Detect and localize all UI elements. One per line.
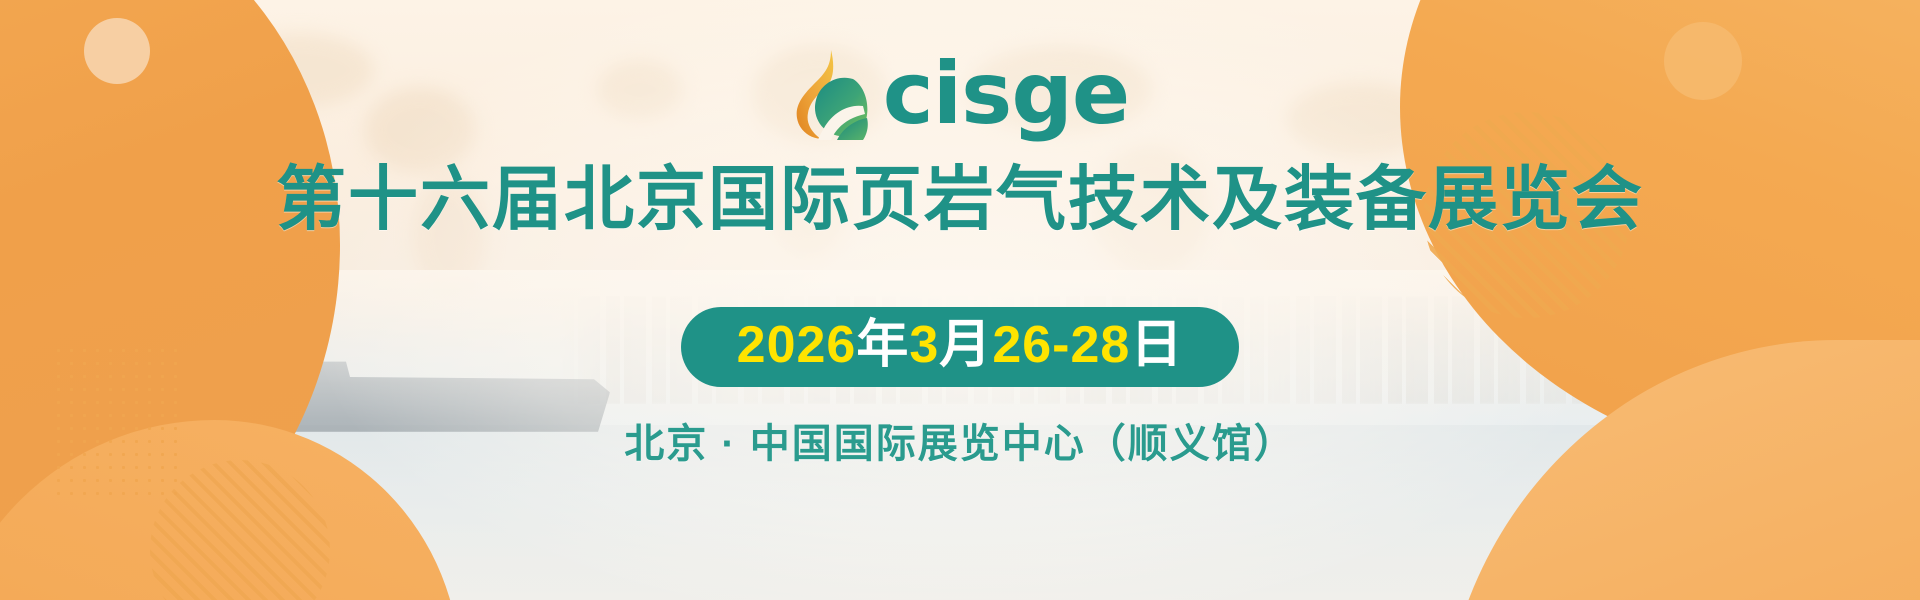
page-title: 第十六届北京国际页岩气技术及装备展览会 <box>276 164 1644 234</box>
date-days: 26-28 <box>992 316 1130 374</box>
event-date-badge: 2026 年 3 月 26-28 日 <box>681 307 1240 387</box>
date-month-suffix: 月 <box>939 316 992 374</box>
date-month: 3 <box>909 316 939 374</box>
cisge-wordmark: cisge <box>883 53 1130 136</box>
date-year: 2026 <box>737 316 857 374</box>
date-day-suffix: 日 <box>1130 316 1183 374</box>
banner-content: cisge 第十六届北京国际页岩气技术及装备展览会 2026 年 3 月 26-… <box>0 0 1920 600</box>
event-banner: cisge 第十六届北京国际页岩气技术及装备展览会 2026 年 3 月 26-… <box>0 0 1920 600</box>
venue-line: 北京 · 中国国际展览中心（顺义馆） <box>624 411 1296 469</box>
date-year-suffix: 年 <box>856 316 909 374</box>
brand-logo: cisge <box>791 46 1130 142</box>
cisge-flame-leaf-logo-icon <box>791 48 869 140</box>
